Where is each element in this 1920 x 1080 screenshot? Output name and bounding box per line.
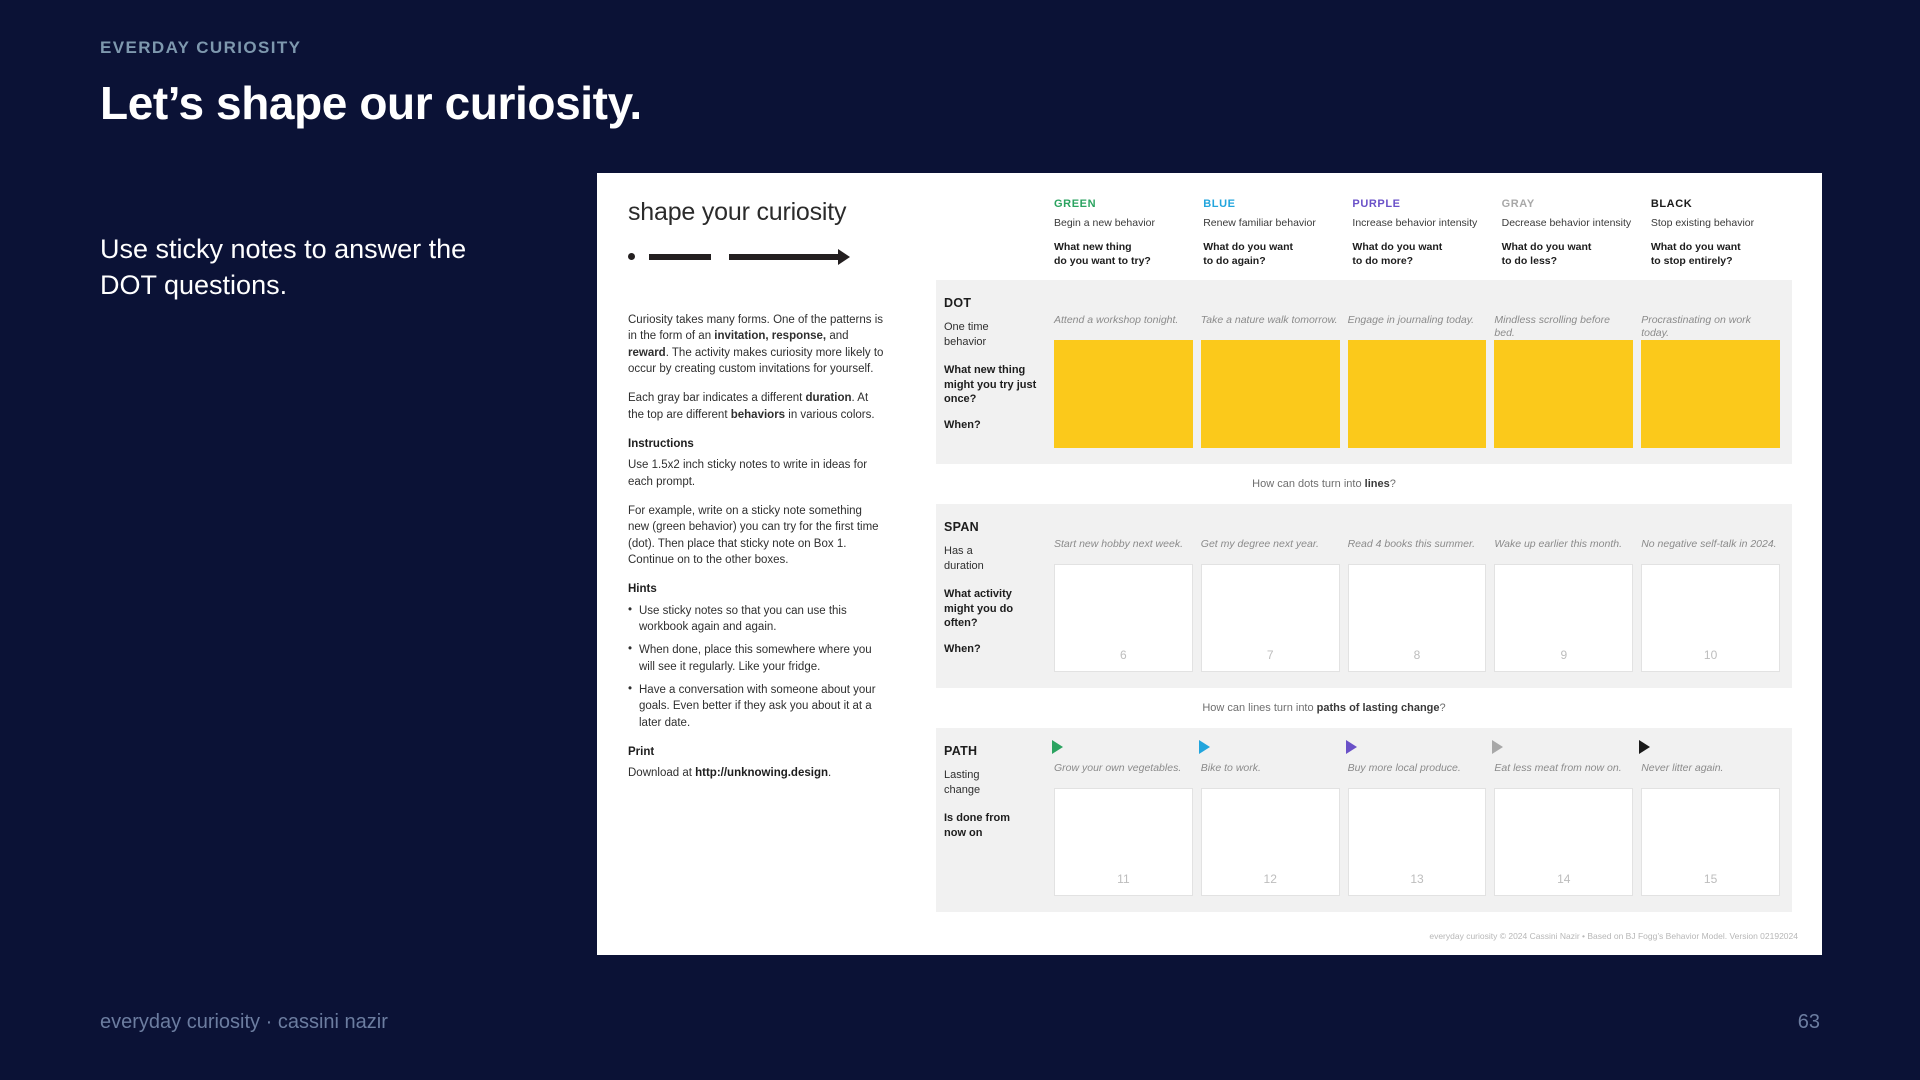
cell-example-text: Bike to work. bbox=[1201, 762, 1340, 788]
grid-cell: Take a nature walk tomorrow. bbox=[1201, 296, 1340, 448]
intro-paragraph-2: Each gray bar indicates a different dura… bbox=[628, 390, 884, 423]
list-item: Have a conversation with someone about y… bbox=[628, 682, 884, 731]
grid-cell: Attend a workshop tonight. bbox=[1054, 296, 1193, 448]
box-number: 15 bbox=[1642, 872, 1779, 886]
column-question: What new thingdo you want to try? bbox=[1054, 241, 1195, 269]
answer-box[interactable]: 14 bbox=[1494, 788, 1633, 896]
workbook-title: shape your curiosity bbox=[628, 198, 908, 227]
column-name: BLUE bbox=[1203, 198, 1344, 210]
cell-mark bbox=[1201, 744, 1340, 756]
row-subtitle: Lastingchange bbox=[944, 768, 1040, 797]
grid-rows: DOTOne timebehaviorWhat new thingmight y… bbox=[936, 280, 1792, 912]
column-description: Stop existing behavior bbox=[1651, 217, 1792, 231]
column-header-green: GREENBegin a new behaviorWhat new thingd… bbox=[1054, 198, 1195, 268]
box-number: 12 bbox=[1202, 872, 1339, 886]
answer-box[interactable]: 15 bbox=[1641, 788, 1780, 896]
sticky-note-slot[interactable] bbox=[1348, 340, 1487, 448]
row-label-span: SPANHas adurationWhat activitymight you … bbox=[936, 504, 1054, 688]
row-label-dot: DOTOne timebehaviorWhat new thingmight y… bbox=[936, 280, 1054, 464]
sticky-note-slot[interactable] bbox=[1201, 340, 1340, 448]
grid-cell: Grow your own vegetables.11 bbox=[1054, 744, 1193, 896]
row-when-label: When? bbox=[944, 643, 1040, 655]
instructions-heading: Instructions bbox=[628, 436, 884, 452]
column-description: Begin a new behavior bbox=[1054, 217, 1195, 231]
answer-box[interactable]: 12 bbox=[1201, 788, 1340, 896]
slide-footer: everyday curiosity · cassini nazir bbox=[100, 1011, 388, 1034]
workbook-grid: GREENBegin a new behaviorWhat new thingd… bbox=[936, 198, 1792, 912]
column-question: What do you wantto stop entirely? bbox=[1651, 241, 1792, 269]
column-header-blue: BLUERenew familiar behaviorWhat do you w… bbox=[1203, 198, 1344, 268]
cell-mark bbox=[1201, 296, 1340, 308]
grid-cell: Mindless scrolling before bed. bbox=[1494, 296, 1633, 448]
intro-paragraph-1: Curiosity takes many forms. One of the p… bbox=[628, 312, 884, 377]
workbook-body-text: Curiosity takes many forms. One of the p… bbox=[628, 312, 884, 782]
cell-mark bbox=[1201, 520, 1340, 532]
column-description: Decrease behavior intensity bbox=[1502, 217, 1643, 231]
dot-mark-icon bbox=[628, 253, 635, 260]
answer-box[interactable]: 13 bbox=[1348, 788, 1487, 896]
box-number: 14 bbox=[1495, 872, 1632, 886]
grid-row-path: PATHLastingchangeIs done fromnow onGrow … bbox=[936, 728, 1792, 912]
cell-example-text: Wake up earlier this month. bbox=[1494, 538, 1633, 564]
row-title: DOT bbox=[944, 296, 1040, 310]
row-when-label: When? bbox=[944, 419, 1040, 431]
column-header-row: GREENBegin a new behaviorWhat new thingd… bbox=[936, 198, 1792, 280]
column-header-black: BLACKStop existing behaviorWhat do you w… bbox=[1651, 198, 1792, 268]
hints-heading: Hints bbox=[628, 581, 884, 597]
row-subtitle: One timebehavior bbox=[944, 320, 1040, 349]
print-text: Download at http://unknowing.design. bbox=[628, 765, 884, 781]
print-link[interactable]: http://unknowing.design bbox=[695, 767, 828, 779]
grid-cell: No negative self-talk in 2024.10 bbox=[1641, 520, 1780, 672]
column-header-gray: GRAYDecrease behavior intensityWhat do y… bbox=[1502, 198, 1643, 268]
cell-example-text: Never litter again. bbox=[1641, 762, 1780, 788]
column-question: What do you wantto do more? bbox=[1352, 241, 1493, 269]
answer-box[interactable]: 7 bbox=[1201, 564, 1340, 672]
grid-cell: Wake up earlier this month.9 bbox=[1494, 520, 1633, 672]
cell-example-text: Take a nature walk tomorrow. bbox=[1201, 314, 1340, 340]
cell-example-text: Attend a workshop tonight. bbox=[1054, 314, 1193, 340]
column-description: Renew familiar behavior bbox=[1203, 217, 1344, 231]
cell-example-text: Eat less meat from now on. bbox=[1494, 762, 1633, 788]
line-mark-icon bbox=[649, 254, 711, 260]
workbook-left-column: shape your curiosity Curiosity takes man… bbox=[628, 198, 908, 795]
sticky-note-slot[interactable] bbox=[1494, 340, 1633, 448]
grid-cell: Never litter again.15 bbox=[1641, 744, 1780, 896]
cell-example-text: Procrastinating on work today. bbox=[1641, 314, 1780, 340]
column-name: PURPLE bbox=[1352, 198, 1493, 210]
row-cells: Start new hobby next week.6Get my degree… bbox=[1054, 504, 1792, 688]
cell-example-text: Mindless scrolling before bed. bbox=[1494, 314, 1633, 340]
cell-mark bbox=[1348, 520, 1487, 532]
answer-box[interactable]: 8 bbox=[1348, 564, 1487, 672]
box-number: 6 bbox=[1055, 648, 1192, 662]
workbook-mark-legend bbox=[628, 253, 908, 260]
grid-cell: Start new hobby next week.6 bbox=[1054, 520, 1193, 672]
cell-mark bbox=[1054, 744, 1193, 756]
arrow-mark-icon bbox=[729, 254, 839, 260]
row-question: Is done fromnow on bbox=[944, 811, 1040, 840]
box-number: 8 bbox=[1349, 648, 1486, 662]
cell-example-text: Engage in journaling today. bbox=[1348, 314, 1487, 340]
header-row-spacer bbox=[936, 198, 1054, 268]
slide: EVERDAY CURIOSITY Let’s shape our curios… bbox=[0, 0, 1920, 1080]
cell-example-text: Read 4 books this summer. bbox=[1348, 538, 1487, 564]
print-heading: Print bbox=[628, 744, 884, 760]
grid-row-dot: DOTOne timebehaviorWhat new thingmight y… bbox=[936, 280, 1792, 464]
cell-mark bbox=[1494, 520, 1633, 532]
box-number: 7 bbox=[1202, 648, 1339, 662]
column-question: What do you wantto do again? bbox=[1203, 241, 1344, 269]
page-number: 63 bbox=[1798, 1011, 1820, 1034]
row-subtitle: Has aduration bbox=[944, 544, 1040, 573]
cell-mark bbox=[1494, 296, 1633, 308]
sticky-note-slot[interactable] bbox=[1054, 340, 1193, 448]
cell-mark bbox=[1641, 296, 1780, 308]
column-name: GRAY bbox=[1502, 198, 1643, 210]
grid-cell: Read 4 books this summer.8 bbox=[1348, 520, 1487, 672]
list-item: When done, place this somewhere where yo… bbox=[628, 642, 884, 675]
cell-mark bbox=[1348, 744, 1487, 756]
box-number: 11 bbox=[1055, 872, 1192, 886]
column-question: What do you wantto do less? bbox=[1502, 241, 1643, 269]
grid-cell: Procrastinating on work today. bbox=[1641, 296, 1780, 448]
grid-cell: Buy more local produce.13 bbox=[1348, 744, 1487, 896]
transition-caption: How can lines turn into paths of lasting… bbox=[936, 688, 1792, 728]
grid-cell: Get my degree next year.7 bbox=[1201, 520, 1340, 672]
row-title: PATH bbox=[944, 744, 1040, 758]
slide-subcopy: Use sticky notes to answer the DOT quest… bbox=[100, 232, 520, 304]
sticky-note-slot[interactable] bbox=[1641, 340, 1780, 448]
row-question: What activitymight you dooften? bbox=[944, 587, 1040, 631]
box-number: 9 bbox=[1495, 648, 1632, 662]
cell-mark bbox=[1054, 520, 1193, 532]
workbook-panel: shape your curiosity Curiosity takes man… bbox=[597, 173, 1822, 955]
box-number: 13 bbox=[1349, 872, 1486, 886]
column-description: Increase behavior intensity bbox=[1352, 217, 1493, 231]
cell-example-text: Start new hobby next week. bbox=[1054, 538, 1193, 564]
answer-box[interactable]: 11 bbox=[1054, 788, 1193, 896]
slide-eyebrow: EVERDAY CURIOSITY bbox=[100, 38, 301, 58]
hints-list: Use sticky notes so that you can use thi… bbox=[628, 603, 884, 731]
grid-cell: Bike to work.12 bbox=[1201, 744, 1340, 896]
list-item: Use sticky notes so that you can use thi… bbox=[628, 603, 884, 636]
cell-example-text: Buy more local produce. bbox=[1348, 762, 1487, 788]
grid-cell: Engage in journaling today. bbox=[1348, 296, 1487, 448]
column-name: GREEN bbox=[1054, 198, 1195, 210]
row-question: What new thingmight you try justonce? bbox=[944, 363, 1040, 407]
grid-cell: Eat less meat from now on.14 bbox=[1494, 744, 1633, 896]
workbook-footer: everyday curiosity © 2024 Cassini Nazir … bbox=[1429, 931, 1798, 941]
page-title: Let’s shape our curiosity. bbox=[100, 76, 642, 130]
row-cells: Grow your own vegetables.11Bike to work.… bbox=[1054, 728, 1792, 912]
cell-mark bbox=[1641, 744, 1780, 756]
cell-mark bbox=[1348, 296, 1487, 308]
cell-mark bbox=[1494, 744, 1633, 756]
cell-example-text: No negative self-talk in 2024. bbox=[1641, 538, 1780, 564]
grid-row-span: SPANHas adurationWhat activitymight you … bbox=[936, 504, 1792, 688]
column-name: BLACK bbox=[1651, 198, 1792, 210]
row-title: SPAN bbox=[944, 520, 1040, 534]
instructions-text-1: Use 1.5x2 inch sticky notes to write in … bbox=[628, 457, 884, 490]
column-headers: GREENBegin a new behaviorWhat new thingd… bbox=[1054, 198, 1792, 268]
box-number: 10 bbox=[1642, 648, 1779, 662]
column-header-purple: PURPLEIncrease behavior intensityWhat do… bbox=[1352, 198, 1493, 268]
cell-mark bbox=[1054, 296, 1193, 308]
row-label-path: PATHLastingchangeIs done fromnow on bbox=[936, 728, 1054, 912]
answer-box[interactable]: 6 bbox=[1054, 564, 1193, 672]
cell-mark bbox=[1641, 520, 1780, 532]
answer-box[interactable]: 10 bbox=[1641, 564, 1780, 672]
row-cells: Attend a workshop tonight.Take a nature … bbox=[1054, 280, 1792, 464]
instructions-text-2: For example, write on a sticky note some… bbox=[628, 503, 884, 568]
cell-example-text: Get my degree next year. bbox=[1201, 538, 1340, 564]
answer-box[interactable]: 9 bbox=[1494, 564, 1633, 672]
transition-caption: How can dots turn into lines? bbox=[936, 464, 1792, 504]
cell-example-text: Grow your own vegetables. bbox=[1054, 762, 1193, 788]
